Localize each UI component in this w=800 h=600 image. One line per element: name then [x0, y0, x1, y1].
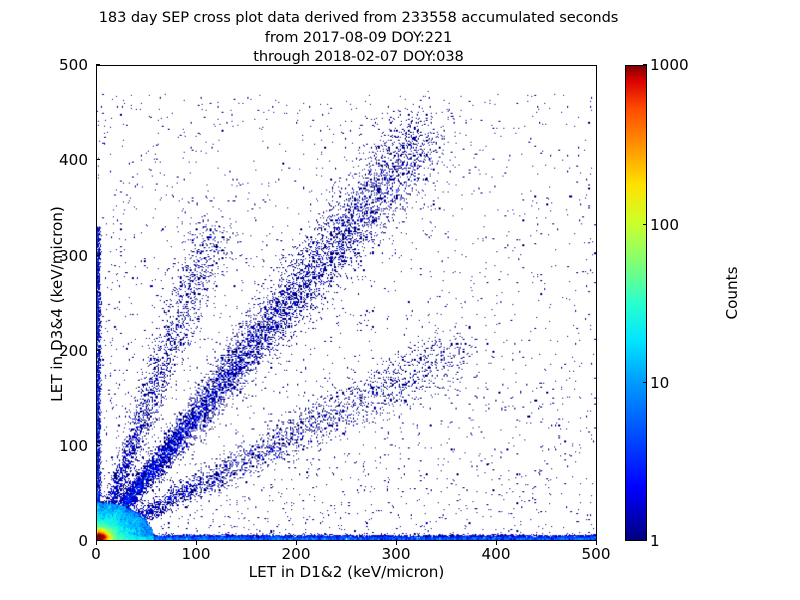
colorbar-tick-label-10: 10 — [650, 374, 669, 392]
colorbar-tick-label-1000: 1000 — [650, 56, 689, 74]
colorbar-tick-label-100: 100 — [650, 216, 679, 234]
figure-canvas: 183 day SEP cross plot data derived from… — [0, 0, 800, 600]
plot-axes — [96, 65, 597, 541]
colorbar-tick-mark-10 — [643, 382, 647, 383]
y-tick-mark-300 — [96, 255, 100, 256]
x-tick-label-300: 300 — [366, 545, 426, 563]
y-tick-label-500: 500 — [52, 56, 88, 74]
title-line-1: 183 day SEP cross plot data derived from… — [0, 8, 717, 28]
x-tick-label-500: 500 — [566, 545, 626, 563]
colorbar-axis-label: Counts — [723, 173, 741, 413]
y-tick-mark-400 — [96, 159, 100, 160]
x-tick-label-200: 200 — [266, 545, 326, 563]
x-tick-label-100: 100 — [166, 545, 226, 563]
title-line-2: from 2017-08-09 DOY:221 — [0, 28, 717, 48]
y-axis-label: LET in D3&4 (keV/micron) — [48, 144, 66, 464]
chart-title: 183 day SEP cross plot data derived from… — [0, 8, 717, 67]
y-tick-mark-100 — [96, 445, 100, 446]
x-axis-label: LET in D1&2 (keV/micron) — [96, 563, 597, 581]
colorbar-tick-label-1: 1 — [650, 532, 660, 550]
colorbar-gradient — [625, 65, 647, 541]
y-tick-mark-200 — [96, 350, 100, 351]
colorbar-tick-mark-1000 — [643, 64, 647, 65]
title-line-3: through 2018-02-07 DOY:038 — [0, 47, 717, 67]
y-tick-mark-500 — [96, 64, 100, 65]
x-tick-label-0: 0 — [66, 545, 126, 563]
x-tick-label-400: 400 — [466, 545, 526, 563]
scatter-heatmap-canvas — [97, 66, 596, 540]
colorbar-tick-mark-100 — [643, 224, 647, 225]
colorbar-tick-mark-1 — [643, 540, 647, 541]
